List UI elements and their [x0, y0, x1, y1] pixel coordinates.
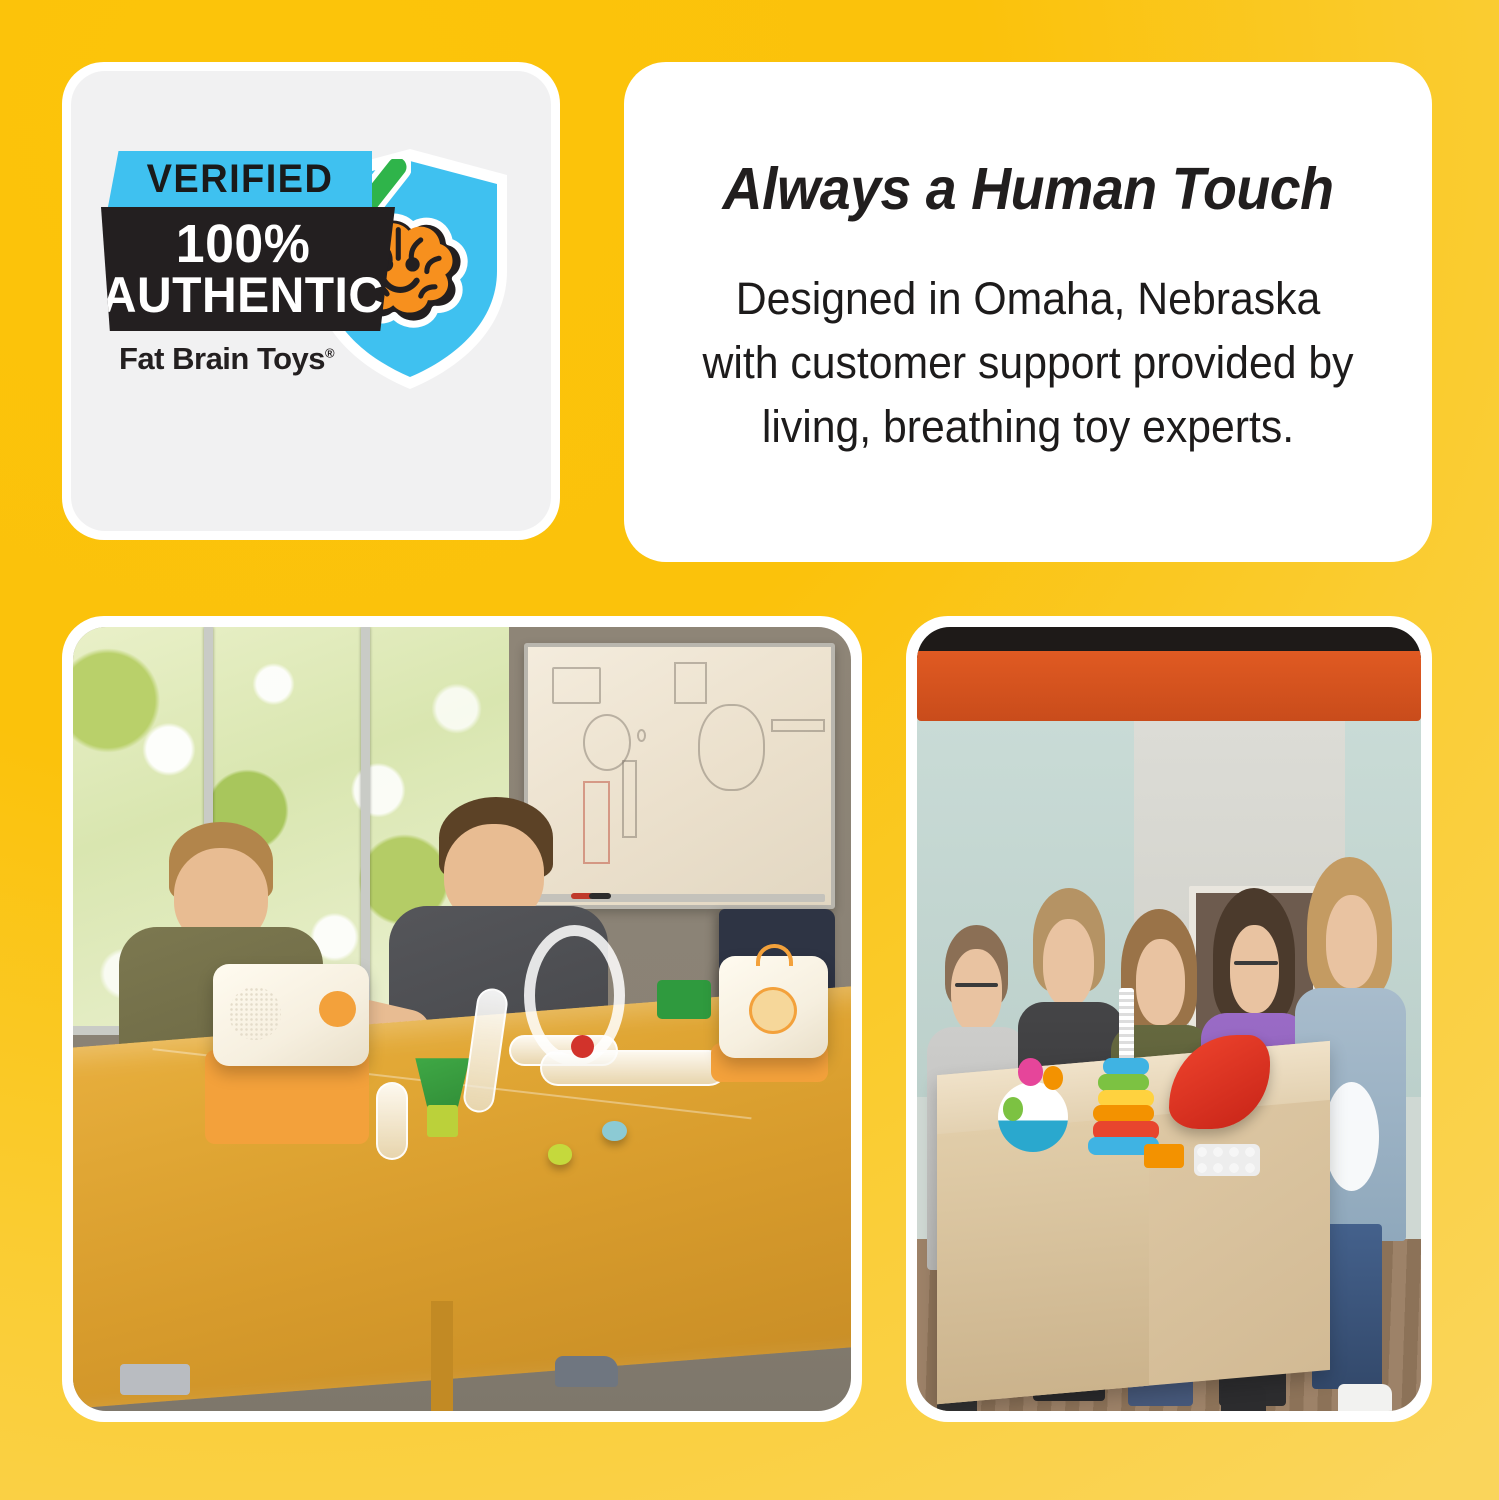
toy-knob: [1003, 1097, 1023, 1121]
trademark-symbol: ®: [325, 346, 334, 361]
yellow-funnel-piece: [427, 1105, 458, 1136]
headline-card: Always a Human Touch Designed in Omaha, …: [624, 62, 1432, 562]
toy-machine-left: [213, 964, 369, 1066]
stacker-ring: [1098, 1090, 1153, 1107]
badge-authentic-label: AUTHENTIC: [102, 271, 384, 319]
table-leg: [431, 1301, 453, 1411]
tube-long: [540, 1050, 727, 1085]
badge-inner-surface: VERIFIED 100% AUTHENTIC Fat Brain Toys®: [71, 71, 551, 531]
badge-authentic-banner: 100% AUTHENTIC: [101, 207, 395, 331]
badge-percent-label: 100%: [176, 219, 311, 271]
orange-toy-pieces: [1144, 1144, 1184, 1168]
page-title: Always a Human Touch: [722, 159, 1333, 221]
badge-verified-banner: VERIFIED: [108, 151, 372, 207]
chair-base: [120, 1364, 190, 1395]
green-connector: [657, 980, 711, 1019]
stacker-post: [1119, 988, 1134, 1066]
shoe: [555, 1356, 617, 1387]
badge-artwork: VERIFIED 100% AUTHENTIC Fat Brain Toys®: [101, 151, 521, 451]
page-subtitle: Designed in Omaha, Nebraska with custome…: [696, 267, 1361, 459]
toy-knob: [1043, 1066, 1063, 1090]
clear-tube: [376, 1082, 407, 1160]
teal-ball: [602, 1121, 627, 1141]
fat-brain-toys-wordmark: Fat Brain Toys®: [119, 341, 334, 377]
stacker-ring: [1098, 1074, 1148, 1091]
toy-knob: [1018, 1058, 1043, 1085]
promo-graphic: VERIFIED 100% AUTHENTIC Fat Brain Toys® …: [0, 0, 1499, 1500]
orange-awning: [917, 651, 1421, 722]
team-scene: [917, 627, 1421, 1411]
brand-name: Fat Brain Toys: [119, 341, 325, 376]
photo-designers-office: [62, 616, 862, 1422]
yellow-green-ball: [548, 1144, 573, 1164]
toy-machine-right: [719, 956, 828, 1058]
verified-authentic-badge-card: VERIFIED 100% AUTHENTIC Fat Brain Toys®: [62, 62, 560, 540]
white-flower-tray: [1194, 1144, 1260, 1175]
office-scene: [73, 627, 851, 1411]
stacker-ring: [1093, 1105, 1153, 1122]
photo-customer-support-team: [906, 616, 1432, 1422]
stacker-ring: [1103, 1058, 1148, 1075]
